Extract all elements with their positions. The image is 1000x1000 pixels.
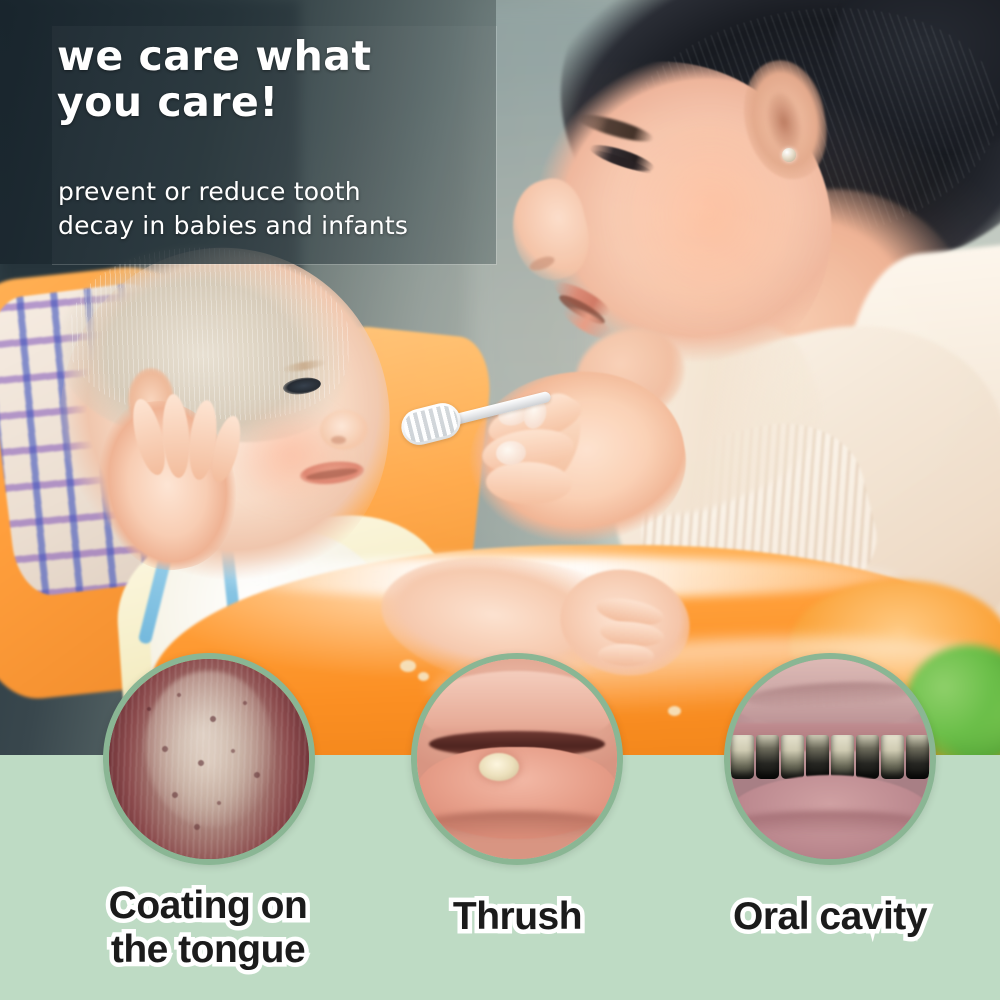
lip-crease-shadow	[417, 811, 617, 839]
headline-text: we care what you care!	[57, 33, 487, 125]
symptom-circle-oral-cavity	[724, 653, 936, 865]
food-crumb	[400, 660, 416, 672]
symptom-label-coating-on-tongue: Coating on the tongue	[58, 884, 358, 972]
decayed-teeth-row	[730, 735, 930, 779]
tooth	[831, 735, 854, 779]
tooth-decayed	[906, 735, 929, 779]
thrush-lesion	[479, 753, 519, 781]
tooth	[731, 735, 754, 779]
baby-nose	[320, 410, 368, 450]
tooth	[781, 735, 804, 779]
baby-nostril	[331, 436, 346, 444]
tongue-papillae-texture	[109, 659, 309, 859]
symptom-label-thrush: Thrush	[390, 895, 645, 939]
tooth-decayed	[856, 735, 879, 779]
tooth-decayed	[806, 735, 829, 779]
subheadline-text: prevent or reduce tooth decay in babies …	[58, 175, 498, 243]
symptom-circle-thrush	[411, 653, 623, 865]
lower-lip-crease	[730, 811, 930, 835]
product-banner: we care what you care! prevent or reduce…	[0, 0, 1000, 1000]
tooth-decayed	[756, 735, 779, 779]
earring-icon	[782, 148, 796, 162]
food-crumb	[668, 706, 681, 716]
symptom-circle-coating-on-tongue	[103, 653, 315, 865]
tooth	[881, 735, 904, 779]
symptom-label-oral-cavity: Oral cavity	[690, 895, 970, 939]
